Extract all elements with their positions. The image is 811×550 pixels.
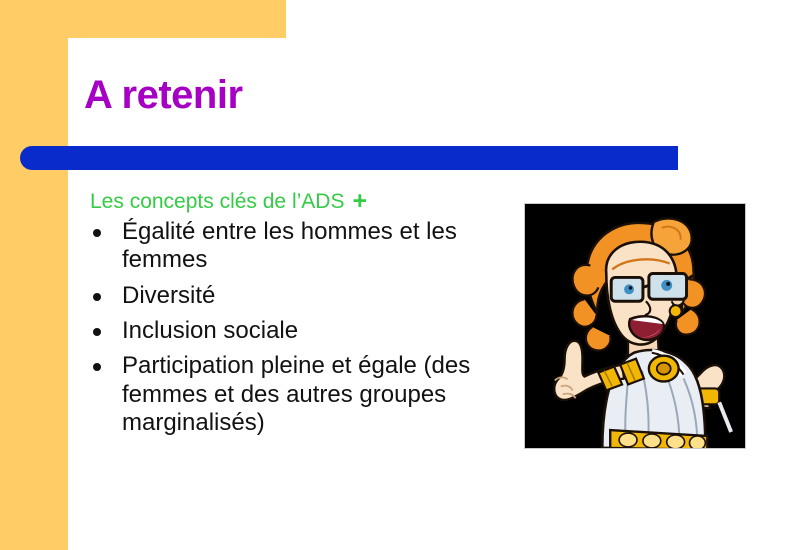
bullet-dot-icon bbox=[93, 229, 101, 237]
list-item-label: Participation pleine et égale (des femme… bbox=[122, 352, 470, 436]
bullet-list: Égalité entre les hommes et les femmes D… bbox=[86, 218, 506, 444]
bullet-dot-icon bbox=[93, 328, 101, 336]
list-item: Diversité bbox=[86, 282, 506, 310]
subheading-text: Les concepts clés de l’ADS bbox=[90, 190, 344, 213]
bullet-dot-icon bbox=[93, 293, 101, 301]
bullet-dot-icon bbox=[93, 363, 101, 371]
left-accent-band bbox=[0, 0, 68, 550]
slide-illustration bbox=[524, 203, 746, 449]
list-item-label: Inclusion sociale bbox=[122, 317, 298, 344]
plus-icon: + bbox=[352, 187, 367, 215]
cartoon-woman-pointing-up-icon bbox=[525, 204, 745, 448]
list-item: Inclusion sociale bbox=[86, 317, 506, 345]
list-item: Égalité entre les hommes et les femmes bbox=[86, 218, 506, 275]
list-item-label: Diversité bbox=[122, 282, 215, 309]
page-title: A retenir bbox=[84, 74, 243, 116]
slide: A retenir Les concepts clés de l’ADS+ Ég… bbox=[0, 0, 811, 550]
subheading: Les concepts clés de l’ADS+ bbox=[90, 187, 367, 216]
list-item: Participation pleine et égale (des femme… bbox=[86, 352, 506, 437]
top-accent-band bbox=[0, 0, 286, 38]
title-divider-rule bbox=[20, 146, 678, 170]
list-item-label: Égalité entre les hommes et les femmes bbox=[122, 218, 457, 273]
